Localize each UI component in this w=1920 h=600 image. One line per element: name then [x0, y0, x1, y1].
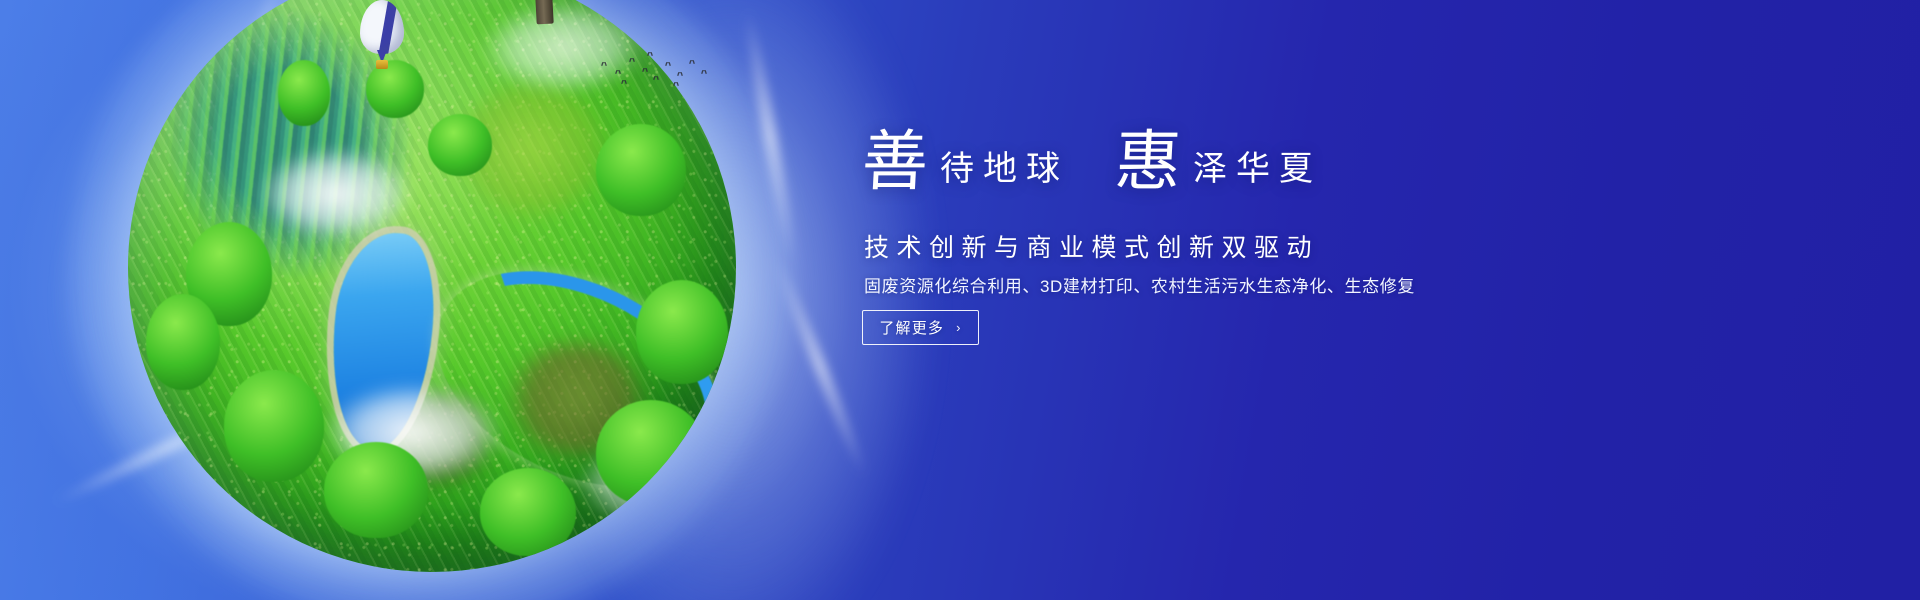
forest-cluster — [596, 124, 686, 216]
cloud-swirl-left — [40, 0, 660, 600]
cirrus-streak — [170, 0, 290, 292]
flying-birds — [652, 76, 660, 80]
river — [402, 228, 736, 530]
flying-birds — [620, 80, 628, 84]
flying-birds — [641, 68, 649, 72]
balloon-neck — [377, 50, 387, 60]
hero-content: 善 待地球 惠 泽华夏 技术创新与商业模式创新双驱动 固废资源化综合利用、3D建… — [862, 0, 1562, 600]
cloud-swirl-bottom — [120, 330, 640, 600]
hero-banner: 善 待地球 惠 泽华夏 技术创新与商业模式创新双驱动 固废资源化综合利用、3D建… — [0, 0, 1920, 600]
cirrus-streak — [769, 252, 870, 479]
cirrus-streak — [51, 384, 290, 509]
forest-cluster — [324, 442, 428, 538]
lake — [322, 227, 442, 454]
forest-cluster — [596, 400, 706, 506]
flying-birds — [614, 70, 622, 74]
balloon-envelope — [360, 0, 404, 54]
forest-cluster — [480, 468, 576, 556]
flying-birds — [676, 72, 684, 76]
flying-birds — [628, 58, 636, 62]
grass-streaks — [128, 0, 736, 572]
cirrus-streak — [234, 0, 367, 205]
terraced-mountains — [128, 0, 461, 342]
flying-birds — [688, 60, 696, 64]
cloud-over-globe — [558, 434, 736, 544]
soil-patch — [378, 394, 498, 484]
forest-cluster — [278, 60, 330, 126]
forest-cluster — [428, 114, 492, 176]
hero-description: 固废资源化综合利用、3D建材打印、农村生活污水生态净化、生态修复 — [864, 272, 1415, 297]
cloud-over-globe — [236, 140, 436, 260]
meadow-patch — [458, 84, 608, 214]
flying-birds — [664, 62, 672, 66]
headline-part1-large: 善 — [860, 130, 931, 196]
balloon-basket — [376, 60, 388, 69]
flying-birds — [700, 70, 708, 74]
forest-cluster — [366, 60, 424, 118]
cloud-over-globe — [458, 0, 668, 114]
hero-headline: 善 待地球 惠 泽华夏 — [862, 130, 1322, 196]
flying-birds — [672, 82, 680, 86]
soil-patch — [508, 344, 648, 454]
hero-subtitle: 技术创新与商业模式创新双驱动 — [864, 228, 1319, 264]
globe-atmosphere-glow — [70, 0, 794, 600]
sky-haze — [0, 0, 780, 600]
green-earth-globe — [128, 0, 736, 572]
cloud-over-globe — [298, 374, 528, 504]
hot-air-balloon — [360, 0, 404, 70]
forest-cluster — [636, 280, 728, 384]
forest-cluster — [186, 222, 272, 326]
forest-cluster — [146, 294, 220, 390]
flying-birds — [600, 62, 608, 66]
tree-trunk — [531, 0, 553, 24]
highland-patch — [248, 114, 368, 234]
forest-cluster — [224, 370, 324, 482]
chevron-right-icon: › — [956, 320, 962, 335]
learn-more-button[interactable]: 了解更多 › — [862, 310, 979, 345]
headline-part2-large: 惠 — [1113, 130, 1184, 196]
headline-part2-small: 泽华夏 — [1183, 153, 1322, 196]
learn-more-label: 了解更多 — [879, 317, 944, 338]
cirrus-streak — [741, 8, 800, 266]
large-tree — [128, 0, 736, 180]
headline-part1-small: 待地球 — [930, 153, 1069, 196]
flying-birds — [646, 52, 654, 56]
grass-texture — [128, 0, 736, 572]
globe-sphere — [128, 0, 736, 572]
